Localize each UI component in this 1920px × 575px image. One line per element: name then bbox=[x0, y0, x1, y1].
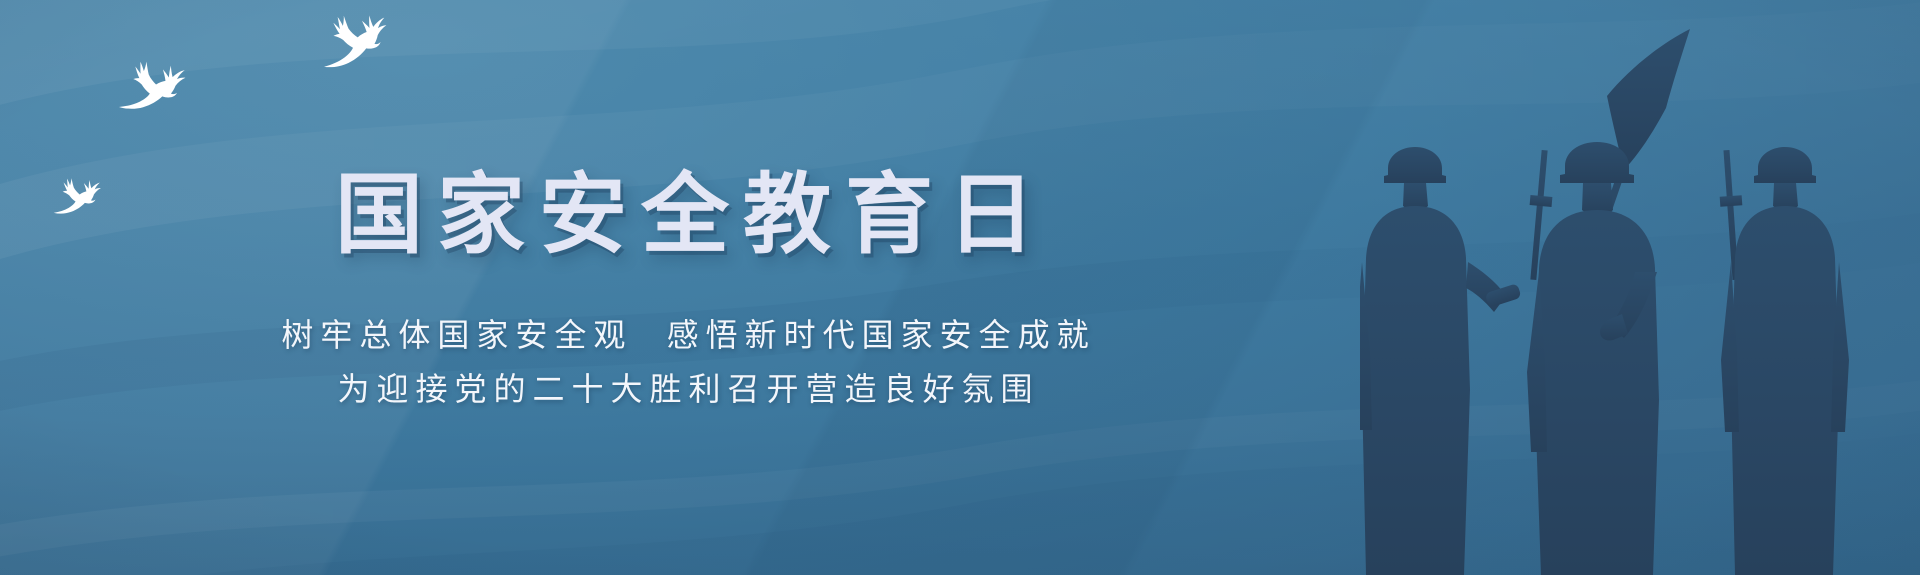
page-title: 国家安全教育日 bbox=[321, 169, 1049, 261]
banner-text-block: 国家安全教育日 树牢总体国家安全观 感悟新时代国家安全成就 为迎接党的二十大胜利… bbox=[0, 0, 1370, 575]
national-security-education-day-banner: 国家安全教育日 树牢总体国家安全观 感悟新时代国家安全成就 为迎接党的二十大胜利… bbox=[0, 0, 1920, 575]
subtitle-line-2: 为迎接党的二十大胜利召开营造良好氛围 bbox=[330, 364, 1039, 416]
subtitle-line-1: 树牢总体国家安全观 感悟新时代国家安全成就 bbox=[274, 310, 1095, 362]
